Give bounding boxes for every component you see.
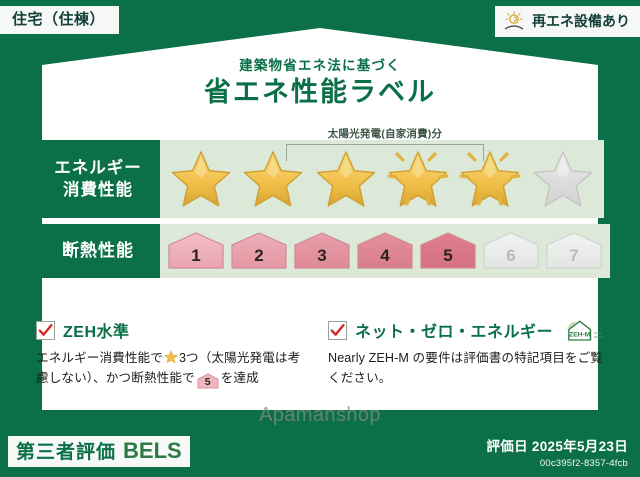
evaluation-date: 評価日 2025年5月23日 — [486, 435, 628, 455]
zeh-checkbox — [36, 321, 55, 340]
insulation-label-box: 断熱性能 — [36, 224, 160, 278]
title-main: 省エネ性能ラベル — [0, 76, 640, 110]
insulation-level-2: 2 — [229, 231, 289, 271]
zeh-title: ZEH水準 — [63, 318, 130, 342]
solar-bracket-label: 太陽光発電(自家消費)分 — [282, 126, 488, 141]
certification-info-section: ZEH水準 エネルギー消費性能で3つ（太陽光発電は考慮しない）、かつ断熱性能で5… — [36, 318, 604, 389]
insulation-level-3: 3 — [292, 231, 352, 271]
insulation-levels-track: 1234567 — [160, 224, 610, 278]
evaluation-info: 評価日 2025年5月23日 00c395f2-8357-4fcb — [486, 435, 628, 469]
check-icon — [38, 323, 53, 338]
energy-label-line2: 消費性能 — [63, 179, 133, 201]
svg-text:ZEH-M: ZEH-M — [569, 332, 591, 339]
svg-text:ZEH-M: ZEH-M — [594, 335, 603, 339]
insulation-level-value: 2 — [254, 246, 263, 266]
energy-star-1 — [168, 146, 234, 212]
net-zero-description: Nearly ZEH-M の要件は評価書の特記項目をご覧ください。 — [328, 348, 604, 389]
net-zero-title: ネット・ゼロ・エネルギー — [355, 318, 553, 342]
energy-performance-row: エネルギー 消費性能 太陽光発電(自家消費)分 — [36, 140, 604, 218]
energy-label-line1: エネルギー — [54, 157, 142, 179]
building-name: D's LIEN A — [213, 445, 280, 460]
bels-jp-label: 第三者評価 — [16, 443, 116, 462]
sun-solar-icon — [503, 11, 525, 31]
net-zero-energy-block: ネット・ゼロ・エネルギー ZEH-M Nearly ZEH-M Nearly Z… — [328, 318, 604, 389]
energy-performance-label: 住宅（住棟） 再エネ設備あり 建築物省エネ法に基づく 省エネ性能ラベル エネルギ… — [0, 0, 640, 477]
energy-star-6 — [530, 146, 596, 212]
inline-star-icon — [164, 350, 178, 364]
insulation-level-list: 1234567 — [166, 231, 604, 271]
title-subtitle: 建築物省エネ法に基づく — [0, 58, 640, 74]
insulation-level-value: 5 — [443, 246, 452, 266]
net-zero-checkbox — [328, 321, 347, 340]
insulation-level-value: 7 — [569, 246, 578, 266]
insulation-label: 断熱性能 — [62, 240, 134, 263]
ratings-section: エネルギー 消費性能 太陽光発電(自家消費)分 断熱性能 1234567 — [36, 140, 604, 284]
insulation-level-7: 7 — [544, 231, 604, 271]
energy-performance-label-box: エネルギー 消費性能 — [36, 140, 160, 218]
net-zero-heading: ネット・ゼロ・エネルギー ZEH-M Nearly ZEH-M — [328, 318, 604, 342]
energy-stars-track: 太陽光発電(自家消費)分 — [160, 140, 604, 218]
bels-en-label: BELS — [123, 440, 182, 462]
insulation-level-6: 6 — [481, 231, 541, 271]
insulation-level-4: 4 — [355, 231, 415, 271]
renewable-equipment-badge: 再エネ設備あり — [495, 6, 640, 37]
building-type-tag: 住宅（住棟） — [0, 6, 119, 34]
zeh-desc-pre: エネルギー消費性能で — [36, 351, 163, 365]
zeh-standard-block: ZEH水準 エネルギー消費性能で3つ（太陽光発電は考慮しない）、かつ断熱性能で5… — [36, 318, 312, 389]
solar-bracket-line — [286, 144, 484, 161]
renewable-badge-label: 再エネ設備あり — [532, 14, 630, 28]
zeh-m-logo: ZEH-M Nearly ZEH-M — [563, 317, 603, 343]
footer-bar: 第三者評価 BELS D's LIEN A 評価日 2025年5月23日 00c… — [0, 429, 640, 477]
check-icon — [330, 323, 345, 338]
star-icon — [532, 149, 594, 209]
bels-badge: 第三者評価 BELS — [8, 436, 190, 467]
insulation-level-value: 1 — [191, 246, 200, 266]
insulation-level-value: 3 — [317, 246, 326, 266]
evaluation-id: 00c395f2-8357-4fcb — [486, 458, 628, 469]
zeh-desc-post: を達成 — [221, 371, 259, 385]
watermark: Apamanshop — [0, 404, 640, 427]
insulation-level-1: 1 — [166, 231, 226, 271]
zeh-badge-value: 5 — [197, 373, 219, 391]
insulation-level-5: 5 — [418, 231, 478, 271]
label-title-block: 建築物省エネ法に基づく 省エネ性能ラベル — [0, 58, 640, 110]
insulation-level-value: 4 — [380, 246, 389, 266]
zeh-heading: ZEH水準 — [36, 318, 312, 342]
zeh-insulation-badge: 5 — [197, 373, 219, 389]
insulation-level-value: 6 — [506, 246, 515, 266]
insulation-performance-row: 断熱性能 1234567 — [36, 224, 604, 278]
star-icon — [170, 149, 232, 209]
zeh-description: エネルギー消費性能で3つ（太陽光発電は考慮しない）、かつ断熱性能で5を達成 — [36, 348, 312, 389]
